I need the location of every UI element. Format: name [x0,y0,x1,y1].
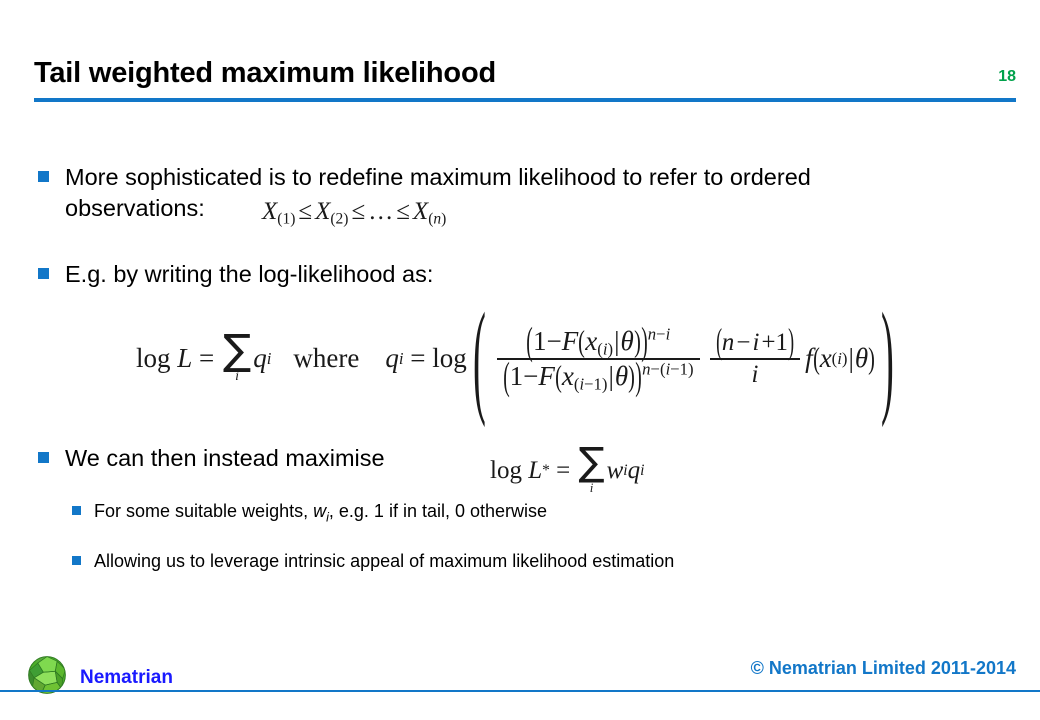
bullet-2-label: E.g. by writing the log-likelihood as: [65,259,433,290]
bullet-4-label: For some suitable weights, wi, e.g. 1 if… [94,499,547,531]
equation-weighted-log-likelihood: log L* = ∑ i wiqi [490,447,644,496]
summation-symbol: ∑ i [223,333,251,385]
page-number: 18 [998,68,1016,86]
brand-name-label: Nematrian [80,667,173,689]
page-title: Tail weighted maximum likelihood [34,57,496,90]
bullet-item-4: For some suitable weights, wi, e.g. 1 if… [72,499,932,531]
bullet-5-label: Allowing us to leverage intrinsic appeal… [94,549,674,574]
equation-log-likelihood: log L = ∑ i qi where qi = log ( (1−F(x(i… [136,325,900,393]
equation-order-statistics: X(1)≤X(2)≤…≤X(n) [262,198,446,226]
footer-divider [0,690,1040,692]
brand-logo-group: Nematrian [24,652,173,703]
bullet-item-1: More sophisticated is to redefine maximu… [38,162,938,224]
bullet-item-2: E.g. by writing the log-likelihood as: [38,259,738,290]
fraction-coefficient: (n − i +1) i [710,328,801,390]
square-bullet-icon [72,506,81,515]
title-divider [34,98,1016,102]
square-bullet-icon [72,556,81,565]
fraction-survival-ratio: (1−F(x(i)|θ))n−i (1−F(x(i−1)|θ))n−(i−1) [497,325,700,393]
polyhedron-sphere-logo-icon [24,652,70,703]
bullet-item-3: We can then instead maximise [38,443,938,474]
summation-symbol: ∑ i [578,447,604,496]
square-bullet-icon [38,171,49,182]
bullet-item-5: Allowing us to leverage intrinsic appeal… [72,549,952,574]
copyright-label: © Nematrian Limited 2011-2014 [751,658,1016,679]
bullet-1-label: More sophisticated is to redefine maximu… [65,162,938,224]
square-bullet-icon [38,452,49,463]
square-bullet-icon [38,268,49,279]
bullet-3-label: We can then instead maximise [65,443,385,474]
